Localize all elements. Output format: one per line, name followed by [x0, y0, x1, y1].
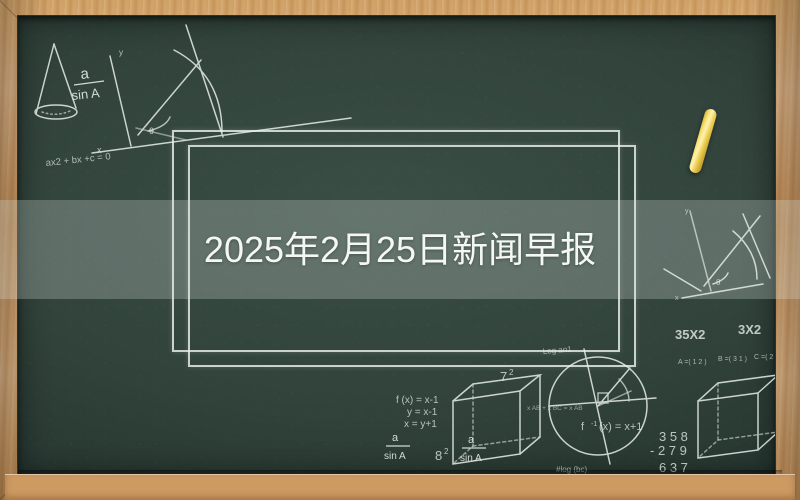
svg-text:B =( 3 1 ): B =( 3 1 ): [718, 356, 747, 363]
svg-text:3X2: 3X2: [738, 322, 761, 337]
svg-text:sin A: sin A: [384, 451, 406, 462]
title-overlay-band: 2025年2月25日新闻早报: [0, 200, 800, 299]
svg-text:x = y+1: x = y+1: [404, 419, 437, 430]
svg-text:A =( 1 2 ): A =( 1 2 ): [678, 359, 707, 366]
svg-text:-1: -1: [591, 421, 597, 428]
svg-text:8: 8: [435, 448, 442, 463]
svg-text:θ: θ: [149, 126, 154, 136]
svg-text:ax2 + bx +c = 0: ax2 + bx +c = 0: [45, 151, 111, 169]
page-title: 2025年2月25日新闻早报: [204, 232, 596, 268]
svg-text:f (x) = x-1: f (x) = x-1: [396, 395, 439, 406]
chalk-ledge: [5, 474, 795, 500]
svg-text:3 5 8: 3 5 8: [659, 429, 688, 444]
svg-text:(x) = x+1: (x) = x+1: [599, 421, 642, 433]
svg-text:f: f: [581, 421, 585, 433]
svg-text:x AB + x BC = x AB: x AB + x BC = x AB: [527, 405, 583, 412]
svg-text:sin A: sin A: [71, 85, 101, 103]
svg-text:2: 2: [509, 368, 514, 377]
svg-text:C =( 2 ): C =( 2 ): [754, 354, 775, 361]
svg-text:y = x-1: y = x-1: [407, 407, 438, 418]
yellow-chalk-stick-icon: [688, 108, 718, 175]
svg-text:x: x: [97, 145, 102, 155]
svg-text:a: a: [80, 65, 91, 83]
svg-text:35X2: 35X2: [675, 327, 705, 342]
svg-text:2: 2: [444, 447, 449, 456]
svg-text:a: a: [468, 434, 475, 446]
svg-text:y: y: [119, 48, 123, 57]
svg-text:a: a: [392, 432, 399, 444]
chalkboard-poster: a sin A ax2 + bx +c = 0 y x θ y x θ 35X2: [0, 0, 800, 500]
svg-text:- 2 7 9: - 2 7 9: [650, 443, 687, 458]
svg-text:7: 7: [500, 369, 507, 384]
svg-text:sin A: sin A: [460, 453, 482, 464]
